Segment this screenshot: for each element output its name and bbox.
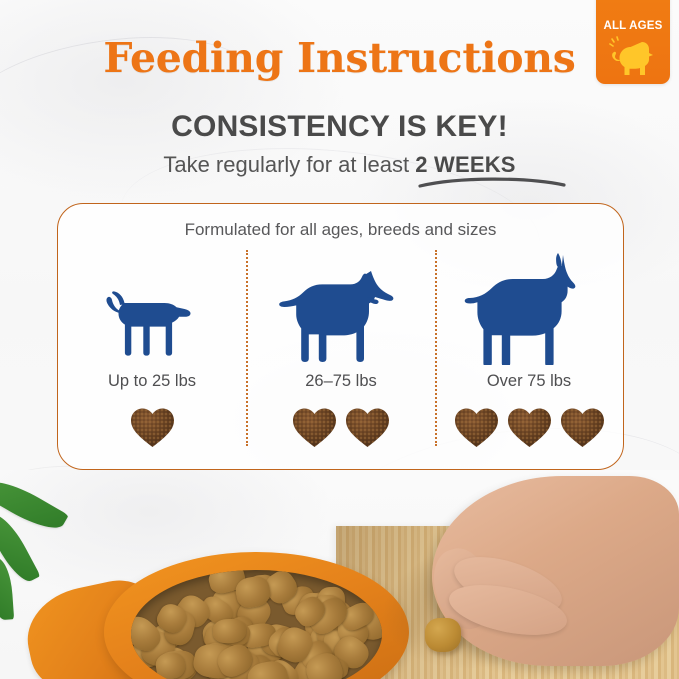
treat-icon [129,405,176,449]
weight-label: Over 75 lbs [435,372,623,391]
tagline-emphasis: 2 WEEKS [415,152,515,177]
treat-icon [344,405,391,449]
badge-label: ALL AGES [596,20,670,32]
size-column-large: Over 75 lbs [435,250,623,458]
held-treat [425,618,461,652]
weight-label: Up to 25 lbs [58,372,246,391]
treat-icon [291,405,338,449]
all-ages-badge: ALL AGES [596,0,670,84]
kibble-piece [154,651,186,679]
tagline: Take regularly for at least 2 WEEKS [0,152,679,178]
small-dog-icon [58,250,246,365]
treat-icon [559,405,606,449]
sitting-dog-icon [609,36,657,78]
card-heading: Formulated for all ages, breeds and size… [58,220,623,240]
treat-icon [506,405,553,449]
kibble-piece [213,618,247,643]
medium-dog-icon [247,250,435,365]
tagline-prefix: Take regularly for at least [163,152,415,177]
large-dog-icon [435,250,623,365]
subtitle: CONSISTENCY IS KEY! [0,110,679,144]
treat-count-small [58,400,246,454]
infographic-canvas: Feeding Instructions CONSISTENCY IS KEY!… [0,0,679,679]
size-column-medium: 26–75 lbs [247,250,435,458]
feeding-guide-card: Formulated for all ages, breeds and size… [57,203,624,470]
size-column-small: Up to 25 lbs [58,250,246,458]
treat-count-large [435,400,623,454]
treat-count-medium [247,400,435,454]
treat-icon [453,405,500,449]
product-photo [0,470,679,679]
page-title: Feeding Instructions [0,34,679,82]
weight-label: 26–75 lbs [247,372,435,391]
